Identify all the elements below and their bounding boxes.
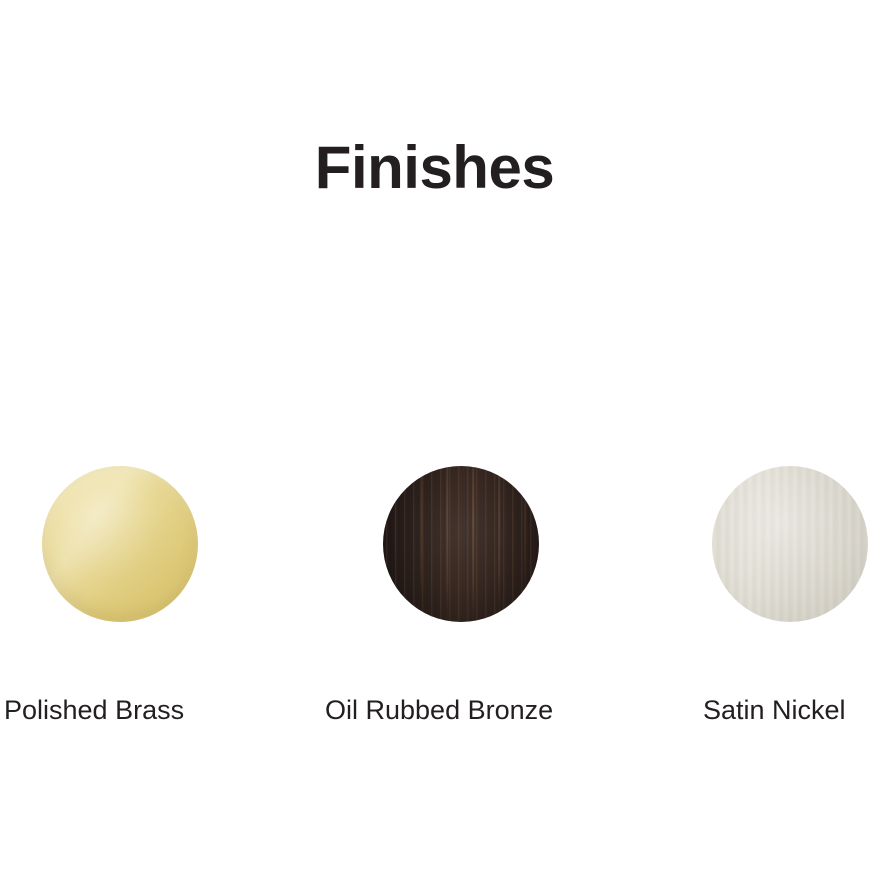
swatch-oil-rubbed-bronze[interactable]: [383, 466, 539, 622]
finish-label-oil-rubbed-bronze: Oil Rubbed Bronze: [325, 694, 553, 726]
finish-option-polished-brass[interactable]: [42, 466, 198, 622]
finish-swatch-row: [0, 0, 873, 873]
swatch-polished-brass[interactable]: [42, 466, 198, 622]
bronze-edge-shading: [383, 466, 539, 622]
brass-edge-shading: [42, 466, 198, 622]
finish-label-satin-nickel: Satin Nickel: [703, 694, 846, 726]
swatch-satin-nickel[interactable]: [712, 466, 868, 622]
finish-option-oil-rubbed-bronze[interactable]: [383, 466, 539, 622]
finish-label-polished-brass: Polished Brass: [4, 694, 184, 726]
finishes-page: Finishes Polished Brass Oil Rubbe: [0, 0, 873, 873]
nickel-edge-shading: [712, 466, 868, 622]
finish-option-satin-nickel[interactable]: [712, 466, 868, 622]
